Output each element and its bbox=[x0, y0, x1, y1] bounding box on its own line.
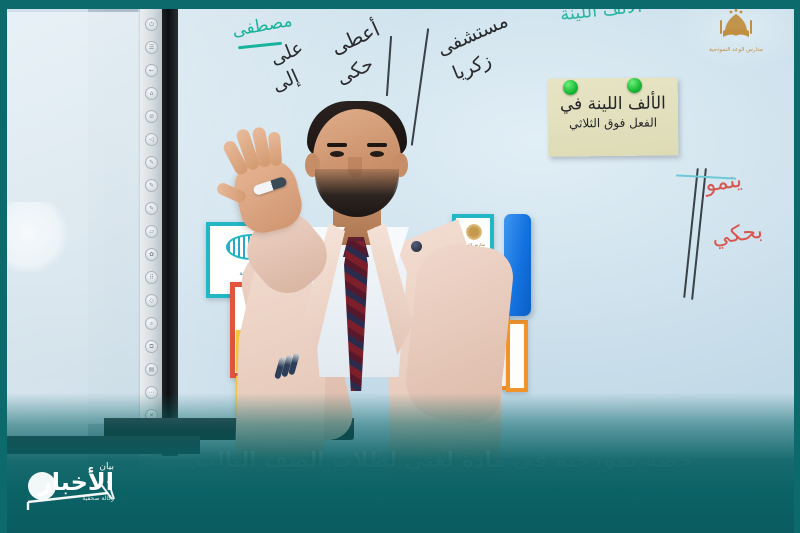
back-icon[interactable]: ← bbox=[145, 64, 158, 77]
brand-small-text: بيان bbox=[38, 463, 114, 472]
power-icon[interactable]: ⏻ bbox=[145, 18, 158, 31]
teacher-lapel-pin-icon bbox=[411, 241, 422, 252]
teacher-beard bbox=[315, 169, 399, 217]
sticky-note-line1: الألف اللينة في bbox=[548, 93, 678, 114]
projector-screen bbox=[0, 12, 142, 424]
teacher-brow-right bbox=[367, 143, 387, 147]
projector-glare bbox=[0, 202, 70, 272]
brand-watermark: بيان الأخبار وكالة صحفية bbox=[22, 453, 118, 519]
menu-icon[interactable]: ☰ bbox=[145, 41, 158, 54]
news-photo-canvas: ⏻ ☰ ← ⌂ ⊘ ◁ ✎ ✎ ✎ ▱ ✿ ⠿ ◇ ⌕ ⧉ ▤ ⋯ ✕ مصطف… bbox=[0, 0, 800, 533]
frame-border-left bbox=[0, 0, 7, 533]
teacher-eye-right bbox=[370, 151, 384, 157]
smartboard-bezel bbox=[162, 4, 178, 456]
teacher-eye-left bbox=[330, 151, 344, 157]
shape-icon[interactable]: ◇ bbox=[145, 294, 158, 307]
sticky-note-line2: الفعل فوق الثلاثي bbox=[548, 113, 678, 132]
pin-green-left bbox=[563, 80, 578, 95]
board-writing-yanmu: ينمو bbox=[703, 168, 743, 198]
caption-overlay bbox=[0, 393, 800, 533]
eraser-icon[interactable]: ▱ bbox=[145, 225, 158, 238]
finger-4 bbox=[268, 132, 282, 167]
school-logo: مدارس الوعد النموذجية bbox=[690, 8, 782, 54]
settings-icon[interactable]: ✿ bbox=[145, 248, 158, 261]
pen-icon[interactable]: ✎ bbox=[145, 156, 158, 169]
school-logo-name: مدارس الوعد النموذجية bbox=[690, 47, 782, 53]
highlighter-icon[interactable]: ✎ bbox=[145, 202, 158, 215]
save-icon[interactable]: ▤ bbox=[145, 363, 158, 376]
zoom-icon[interactable]: ⌕ bbox=[145, 317, 158, 330]
grid-icon[interactable]: ⠿ bbox=[145, 271, 158, 284]
teacher-brow-left bbox=[327, 143, 347, 147]
home-icon[interactable]: ⌂ bbox=[145, 87, 158, 100]
screenshot-icon[interactable]: ⧉ bbox=[145, 340, 158, 353]
smartboard-control-rail[interactable]: ⏻ ☰ ← ⌂ ⊘ ◁ ✎ ✎ ✎ ▱ ✿ ⠿ ◇ ⌕ ⧉ ▤ ⋯ ✕ bbox=[140, 8, 162, 456]
frame-border-right bbox=[794, 0, 800, 533]
frame-border-top bbox=[0, 0, 800, 9]
brand-logo-wordmark: بيان الأخبار وكالة صحفية bbox=[38, 463, 114, 502]
pen-thin-icon[interactable]: ✎ bbox=[145, 179, 158, 192]
brand-main-text: الأخبار bbox=[38, 470, 114, 494]
brand-tagline: وكالة صحفية bbox=[38, 496, 114, 502]
thumb bbox=[215, 181, 247, 204]
volume-icon[interactable]: ◁ bbox=[145, 133, 158, 146]
teacher-pocket-pens bbox=[277, 353, 303, 387]
mute-icon[interactable]: ⊘ bbox=[145, 110, 158, 123]
school-logo-icon bbox=[690, 8, 782, 42]
pin-green-right bbox=[627, 78, 642, 93]
